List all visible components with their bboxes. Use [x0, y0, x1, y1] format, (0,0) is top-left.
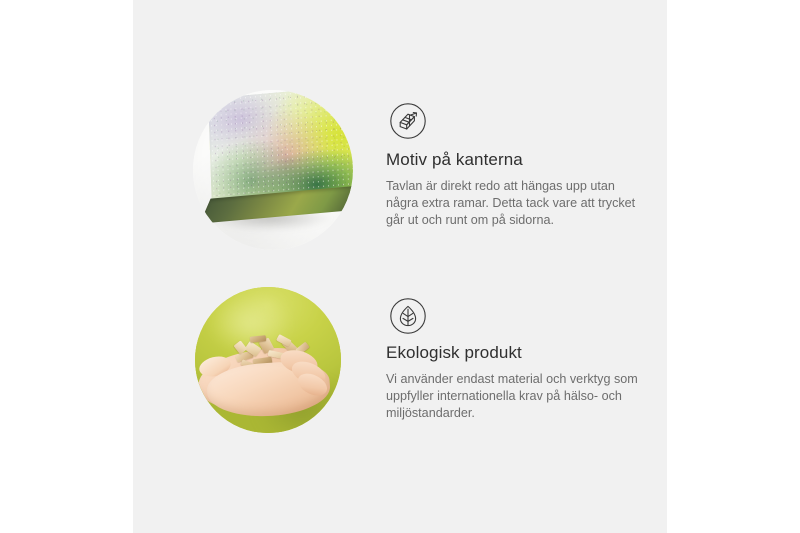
feature-text-block: Motiv på kanterna Tavlan är direkt redo …	[386, 150, 648, 229]
feature-title: Ekologisk produkt	[386, 343, 648, 363]
feature-title: Motiv på kanterna	[386, 150, 648, 170]
wood-chip	[276, 334, 292, 346]
hands-holding-wood-chips-photo	[195, 287, 341, 433]
feature-text-block: Ekologisk produkt Vi använder endast mat…	[386, 343, 648, 422]
leaf-glyph	[389, 297, 427, 335]
canvas-wrapped-edge-glyph	[389, 102, 427, 140]
product-feature-banner: Motiv på kanterna Tavlan är direkt redo …	[0, 0, 800, 533]
leaf-icon	[389, 297, 427, 335]
feature-description: Tavlan är direkt redo att hängas upp uta…	[386, 178, 648, 229]
canvas-print-corner-photo	[193, 90, 353, 250]
canvas-print-object	[208, 90, 353, 227]
canvas-wrapped-edge-icon	[389, 102, 427, 140]
content-panel: Motiv på kanterna Tavlan är direkt redo …	[133, 0, 667, 533]
feature-description: Vi använder endast material och verktyg …	[386, 371, 648, 422]
